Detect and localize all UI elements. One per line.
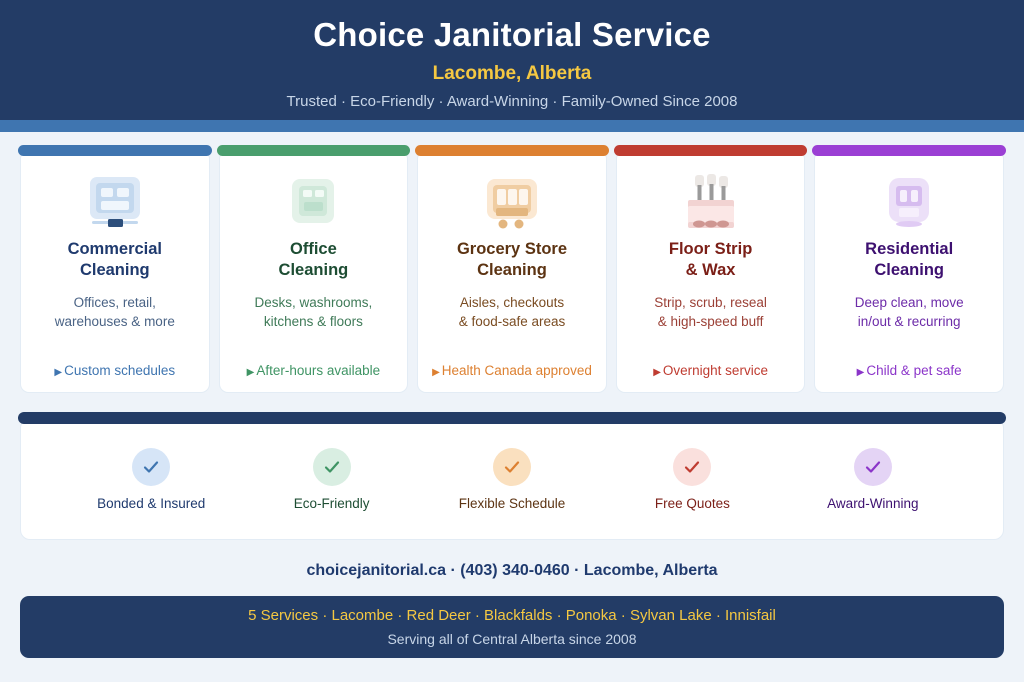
badge-label: Eco-Friendly	[294, 496, 370, 511]
card-note-label: Child & pet safe	[866, 363, 961, 378]
card-note-label: Overnight service	[663, 363, 768, 378]
home-icon	[876, 173, 942, 235]
card-title: Commercial Cleaning	[68, 239, 162, 280]
floor-buffer-icon	[678, 173, 744, 235]
trust-badge-bonded-insured: Bonded & Insured	[61, 448, 241, 511]
badge-circle	[132, 448, 170, 486]
header-tagline: Trusted · Eco-Friendly · Award-Winning ·…	[20, 93, 1004, 110]
service-card-office-cleaning[interactable]: Office Cleaning Desks, washrooms, kitche…	[219, 150, 409, 393]
card-accent-bar	[812, 145, 1006, 156]
card-desc-line2: kitchens & floors	[264, 314, 363, 329]
card-description: Aisles, checkouts & food-safe areas	[459, 293, 566, 332]
office-desk-icon	[280, 173, 346, 235]
service-card-commercial-cleaning[interactable]: Commercial Cleaning Offices, retail, war…	[20, 150, 210, 393]
card-title-line1: Residential	[865, 240, 953, 258]
badge-circle	[313, 448, 351, 486]
triangle-right-icon: ▶	[857, 367, 865, 378]
card-desc-line2: warehouses & more	[55, 314, 175, 329]
badge-circle	[673, 448, 711, 486]
page-title: Choice Janitorial Service	[20, 14, 1004, 55]
shopping-cart-icon	[479, 173, 545, 235]
card-title: Office Cleaning	[279, 239, 349, 280]
card-title: Grocery Store Cleaning	[457, 239, 567, 280]
card-title: Residential Cleaning	[865, 239, 953, 280]
card-title-line2: Cleaning	[279, 261, 349, 279]
badge-label: Free Quotes	[655, 496, 730, 511]
card-note: ▶Custom schedules	[54, 363, 175, 378]
card-title-line1: Floor Strip	[669, 240, 752, 258]
badge-circle	[854, 448, 892, 486]
badges-accent-bar	[18, 412, 1006, 424]
card-desc-line1: Desks, washrooms,	[254, 295, 372, 310]
office-building-icon	[82, 173, 148, 235]
card-description: Deep clean, move in/out & recurring	[855, 293, 964, 332]
check-icon	[863, 457, 883, 477]
check-icon	[502, 457, 522, 477]
trust-badge-flexible-schedule: Flexible Schedule	[422, 448, 602, 511]
triangle-right-icon: ▶	[432, 367, 440, 378]
triangle-right-icon: ▶	[54, 367, 62, 378]
footer: 5 Services · Lacombe · Red Deer · Blackf…	[20, 596, 1004, 658]
card-description: Offices, retail, warehouses & more	[55, 293, 175, 332]
card-note: ▶Health Canada approved	[432, 363, 592, 378]
service-card-residential-cleaning[interactable]: Residential Cleaning Deep clean, move in…	[814, 150, 1004, 393]
poster-root: Choice Janitorial Service Lacombe, Alber…	[0, 0, 1024, 682]
service-card-grocery-store-cleaning[interactable]: Grocery Store Cleaning Aisles, checkouts…	[417, 150, 607, 393]
card-title-line2: Cleaning	[874, 261, 944, 279]
card-note: ▶Overnight service	[653, 363, 768, 378]
header-location: Lacombe, Alberta	[20, 63, 1004, 85]
card-note-label: Health Canada approved	[442, 363, 592, 378]
card-description: Strip, scrub, reseal & high-speed buff	[654, 293, 767, 332]
badge-label: Award-Winning	[827, 496, 918, 511]
card-desc-line2: & high-speed buff	[658, 314, 764, 329]
header-accent-bar	[0, 120, 1024, 132]
service-card-floor-strip-and-wax[interactable]: Floor Strip & Wax Strip, scrub, reseal &…	[616, 150, 806, 393]
card-description: Desks, washrooms, kitchens & floors	[254, 293, 372, 332]
footer-tagline: Serving all of Central Alberta since 200…	[387, 631, 636, 647]
badge-label: Flexible Schedule	[459, 496, 566, 511]
card-title-line1: Commercial	[68, 240, 162, 258]
card-desc-line2: in/out & recurring	[858, 314, 961, 329]
card-title-line2: & Wax	[686, 261, 736, 279]
card-desc-line2: & food-safe areas	[459, 314, 566, 329]
check-icon	[322, 457, 342, 477]
footer-service-areas: 5 Services · Lacombe · Red Deer · Blackf…	[248, 607, 776, 624]
triangle-right-icon: ▶	[247, 367, 255, 378]
card-accent-bar	[614, 145, 808, 156]
header: Choice Janitorial Service Lacombe, Alber…	[0, 0, 1024, 120]
contact-line[interactable]: choicejanitorial.ca · (403) 340-0460 · L…	[0, 540, 1024, 596]
card-desc-line1: Strip, scrub, reseal	[654, 295, 767, 310]
trust-badge-free-quotes: Free Quotes	[602, 448, 782, 511]
triangle-right-icon: ▶	[653, 367, 661, 378]
trust-badge-eco-friendly: Eco-Friendly	[241, 448, 421, 511]
card-note: ▶After-hours available	[247, 363, 381, 378]
card-title-line2: Cleaning	[80, 261, 150, 279]
card-accent-bar	[415, 145, 609, 156]
card-accent-bar	[18, 145, 212, 156]
card-note-label: After-hours available	[256, 363, 380, 378]
card-title-line2: Cleaning	[477, 261, 547, 279]
card-note: ▶Child & pet safe	[857, 363, 962, 378]
card-desc-line1: Aisles, checkouts	[460, 295, 564, 310]
trust-badges-panel: Bonded & Insured Eco-Friendly Flexible S…	[20, 418, 1004, 540]
badge-circle	[493, 448, 531, 486]
card-desc-line1: Deep clean, move	[855, 295, 964, 310]
card-title-line1: Grocery Store	[457, 240, 567, 258]
card-accent-bar	[217, 145, 411, 156]
badge-label: Bonded & Insured	[97, 496, 205, 511]
service-card-list: Commercial Cleaning Offices, retail, war…	[0, 132, 1024, 393]
card-title: Floor Strip & Wax	[669, 239, 752, 280]
card-desc-line1: Offices, retail,	[74, 295, 156, 310]
check-icon	[141, 457, 161, 477]
check-icon	[682, 457, 702, 477]
trust-badges-section: Bonded & Insured Eco-Friendly Flexible S…	[0, 393, 1024, 540]
card-title-line1: Office	[290, 240, 337, 258]
card-note-label: Custom schedules	[64, 363, 175, 378]
trust-badge-award-winning: Award-Winning	[783, 448, 963, 511]
